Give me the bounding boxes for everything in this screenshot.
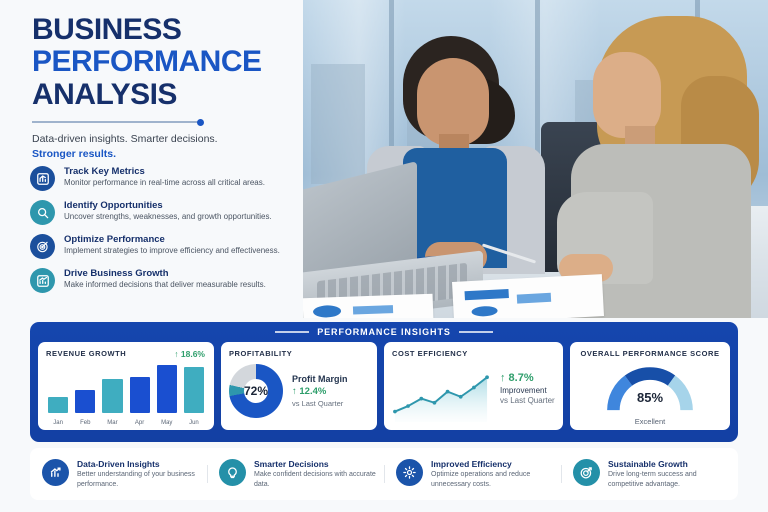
feature-desc: Monitor performance in real-time across …: [64, 178, 265, 189]
data-point: [406, 404, 410, 408]
data-point: [393, 410, 397, 414]
cost-efficiency-area-chart: [392, 364, 490, 422]
data-point: [433, 401, 437, 405]
title-line-3: ANALYSIS: [32, 79, 294, 111]
subtitle-line-1: Data-driven insights. Smarter decisions.: [32, 133, 218, 145]
infographic-page: BUSINESS PERFORMANCE ANALYSIS Data-drive…: [0, 0, 768, 512]
target-icon: [30, 234, 55, 259]
card-cost-efficiency[interactable]: COST EFFICIENCY ↑ 8.7% Improvement: [384, 342, 563, 430]
office-photo: [303, 0, 768, 318]
metric-label: Profit Margin: [292, 374, 348, 384]
panel-header: PERFORMANCE INSIGHTS: [30, 322, 738, 337]
feature-item-identify-opportunities: Identify Opportunities Uncover strengths…: [30, 200, 280, 225]
revenue-delta-badge: ↑ 18.6%: [174, 349, 205, 359]
gear-icon: [396, 459, 423, 486]
benefit-title: Improved Efficiency: [431, 459, 553, 469]
data-point: [485, 375, 489, 379]
header-rule-right: [459, 331, 493, 333]
feature-desc: Make informed decisions that deliver mea…: [64, 280, 266, 291]
growth-chart-icon: [30, 268, 55, 293]
gauge-value: 85%: [598, 390, 702, 405]
feature-title: Identify Opportunities: [64, 200, 272, 211]
lightbulb-icon: [219, 459, 246, 486]
feature-list: Track Key Metrics Monitor performance in…: [30, 166, 280, 302]
benefit-desc: Better understanding of your business pe…: [77, 470, 199, 489]
benefit-title: Sustainable Growth: [608, 459, 730, 469]
card-profitability[interactable]: PROFITABILITY 72% Profit Margin ↑ 12.4% …: [221, 342, 377, 430]
bar-column: [184, 361, 204, 413]
bar-chart-icon: [42, 459, 69, 486]
benefit-item-smarter-decisions: Smarter Decisions Make confident decisio…: [207, 459, 384, 489]
feature-title: Optimize Performance: [64, 234, 280, 245]
bar-label: Jun: [184, 420, 204, 426]
gauge-arc: 85%: [598, 362, 702, 414]
benefit-item-sustainable-growth: Sustainable Growth Drive long-term succe…: [561, 459, 738, 489]
cost-efficiency-stats: ↑ 8.7% Improvement vs Last Quarter: [500, 372, 555, 405]
feature-item-drive-business-growth: Drive Business Growth Make informed deci…: [30, 268, 280, 293]
bar-column: [130, 361, 150, 413]
card-overall-performance-score[interactable]: OVERALL PERFORMANCE SCORE 85% Excellent: [570, 342, 730, 430]
benefit-item-improved-efficiency: Improved Efficiency Optimize operations …: [384, 459, 561, 489]
target-icon: [573, 459, 600, 486]
metric-compare: vs Last Quarter: [292, 399, 348, 408]
subtitle: Data-driven insights. Smarter decisions.…: [32, 132, 294, 162]
benefits-row: Data-Driven Insights Better understandin…: [30, 448, 738, 500]
benefit-item-data-driven-insights: Data-Driven Insights Better understandin…: [30, 459, 207, 489]
feature-title: Drive Business Growth: [64, 268, 266, 279]
cost-delta-compare: vs Last Quarter: [500, 396, 555, 405]
bar-column: [48, 361, 68, 413]
performance-insights-panel: PERFORMANCE INSIGHTS REVENUE GROWTH ↑ 18…: [30, 322, 738, 442]
bar-column: [102, 361, 122, 413]
performance-gauge-chart: 85% Excellent: [570, 362, 730, 426]
feature-item-optimize-performance: Optimize Performance Implement strategie…: [30, 234, 280, 259]
benefit-desc: Optimize operations and reduce unnecessa…: [431, 470, 553, 489]
bar: [184, 367, 204, 413]
panel-heading-label: PERFORMANCE INSIGHTS: [317, 327, 451, 337]
bar: [75, 390, 95, 413]
magnifier-icon: [30, 200, 55, 225]
benefit-title: Data-Driven Insights: [77, 459, 199, 469]
data-point: [419, 397, 423, 401]
feature-desc: Implement strategies to improve efficien…: [64, 246, 280, 257]
bar: [102, 379, 122, 413]
bar: [48, 397, 68, 413]
donut-center-value: 72%: [229, 364, 283, 418]
benefit-title: Smarter Decisions: [254, 459, 376, 469]
report-paper: [452, 274, 604, 318]
bar: [157, 365, 177, 413]
bar: [130, 377, 150, 413]
data-point: [446, 390, 450, 394]
gauge-caption: Excellent: [635, 417, 665, 426]
chart-paper: [303, 294, 433, 318]
card-title: PROFITABILITY: [229, 349, 369, 358]
cost-delta-label: Improvement: [500, 386, 555, 395]
card-title: OVERALL PERFORMANCE SCORE: [578, 349, 722, 358]
metric-card-row: REVENUE GROWTH ↑ 18.6% JanFebMarAprMayJu…: [30, 337, 738, 438]
feature-item-track-key-metrics: Track Key Metrics Monitor performance in…: [30, 166, 280, 191]
metric-delta: ↑ 12.4%: [292, 386, 348, 397]
bar-label: Mar: [102, 420, 122, 426]
bar-column: [75, 361, 95, 413]
card-revenue-growth[interactable]: REVENUE GROWTH ↑ 18.6% JanFebMarAprMayJu…: [38, 342, 214, 430]
revenue-bar-chart: [48, 361, 204, 413]
header-rule-left: [275, 331, 309, 333]
feature-desc: Uncover strengths, weaknesses, and growt…: [64, 212, 272, 223]
benefit-desc: Drive long-term success and competitive …: [608, 470, 730, 489]
page-title: BUSINESS PERFORMANCE ANALYSIS Data-drive…: [32, 14, 294, 163]
bar-label: Apr: [130, 420, 150, 426]
donut-ring: 72%: [229, 364, 283, 418]
data-point: [472, 386, 476, 390]
bar-label: Jan: [48, 420, 68, 426]
title-divider: [32, 121, 200, 123]
profitability-donut-chart: 72% Profit Margin ↑ 12.4% vs Last Quarte…: [229, 364, 348, 418]
revenue-axis-labels: JanFebMarAprMayJun: [48, 420, 204, 426]
bar-label: Feb: [75, 420, 95, 426]
bar-label: May: [157, 420, 177, 426]
bar-chart-icon: [30, 166, 55, 191]
data-point: [459, 395, 463, 399]
profitability-legend: Profit Margin ↑ 12.4% vs Last Quarter: [292, 374, 348, 408]
person-right: [553, 16, 768, 318]
cost-delta: ↑ 8.7%: [500, 372, 555, 384]
gauge-segment: [628, 374, 671, 381]
feature-title: Track Key Metrics: [64, 166, 265, 177]
card-title: COST EFFICIENCY: [392, 349, 555, 358]
title-line-1: BUSINESS: [32, 14, 294, 46]
bar-column: [157, 361, 177, 413]
benefit-desc: Make confident decisions with accurate d…: [254, 470, 376, 489]
title-line-2: PERFORMANCE: [32, 46, 294, 78]
subtitle-line-2: Stronger results.: [32, 148, 116, 160]
